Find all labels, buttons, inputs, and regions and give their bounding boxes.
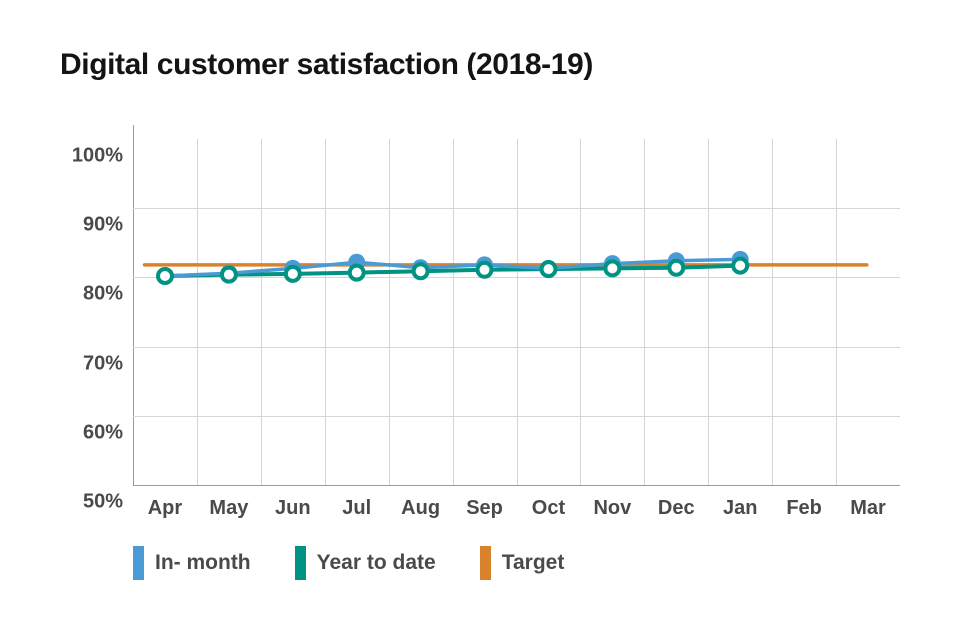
- legend-item-year-to-date[interactable]: Year to date: [295, 546, 436, 580]
- legend-swatch-icon: [133, 546, 144, 580]
- legend-label: Year to date: [317, 551, 436, 575]
- y-axis-tick-60: 60%: [83, 421, 123, 444]
- plot-area: [133, 139, 900, 485]
- chart-title: Digital customer satisfaction (2018-19): [60, 48, 593, 82]
- x-axis-tick-oct: Oct: [532, 497, 565, 520]
- x-axis-tick-jan: Jan: [723, 497, 757, 520]
- series-layer: [133, 139, 900, 485]
- legend-label: In- month: [155, 551, 251, 575]
- x-axis-tick-sep: Sep: [466, 497, 503, 520]
- x-axis-tick-apr: Apr: [148, 497, 182, 520]
- x-axis-tick-jul: Jul: [342, 497, 371, 520]
- data-point-year-to-date-jun[interactable]: [286, 267, 300, 281]
- data-point-year-to-date-may[interactable]: [222, 268, 236, 282]
- legend-swatch-icon: [480, 546, 491, 580]
- x-axis-tick-dec: Dec: [658, 497, 695, 520]
- x-axis-tick-aug: Aug: [401, 497, 440, 520]
- data-point-year-to-date-jan[interactable]: [733, 259, 747, 273]
- gridline-50: [133, 485, 900, 486]
- x-axis-tick-feb: Feb: [786, 497, 822, 520]
- data-point-year-to-date-oct[interactable]: [542, 262, 556, 276]
- x-axis-tick-nov: Nov: [593, 497, 631, 520]
- x-axis-tick-mar: Mar: [850, 497, 886, 520]
- data-point-year-to-date-jul[interactable]: [350, 266, 364, 280]
- data-point-year-to-date-aug[interactable]: [414, 264, 428, 278]
- data-point-year-to-date-apr[interactable]: [158, 269, 172, 283]
- y-axis-label-group: 50%60%70%80%90%100%: [0, 0, 123, 640]
- y-axis-tick-100: 100%: [72, 145, 123, 168]
- data-point-year-to-date-nov[interactable]: [605, 261, 619, 275]
- legend-item-in-month[interactable]: In- month: [133, 546, 251, 580]
- y-axis-tick-90: 90%: [83, 214, 123, 237]
- y-axis-tick-50: 50%: [83, 491, 123, 514]
- data-point-year-to-date-dec[interactable]: [669, 261, 683, 275]
- legend-swatch-icon: [295, 546, 306, 580]
- x-axis-tick-may: May: [209, 497, 248, 520]
- chart-legend: In- monthYear to dateTarget: [133, 546, 608, 580]
- data-point-year-to-date-sep[interactable]: [478, 263, 492, 277]
- legend-item-target[interactable]: Target: [480, 546, 565, 580]
- legend-label: Target: [502, 551, 565, 575]
- chart-container: Digital customer satisfaction (2018-19) …: [0, 0, 960, 640]
- x-axis-tick-jun: Jun: [275, 497, 311, 520]
- y-axis-tick-70: 70%: [83, 352, 123, 375]
- y-axis-tick-80: 80%: [83, 283, 123, 306]
